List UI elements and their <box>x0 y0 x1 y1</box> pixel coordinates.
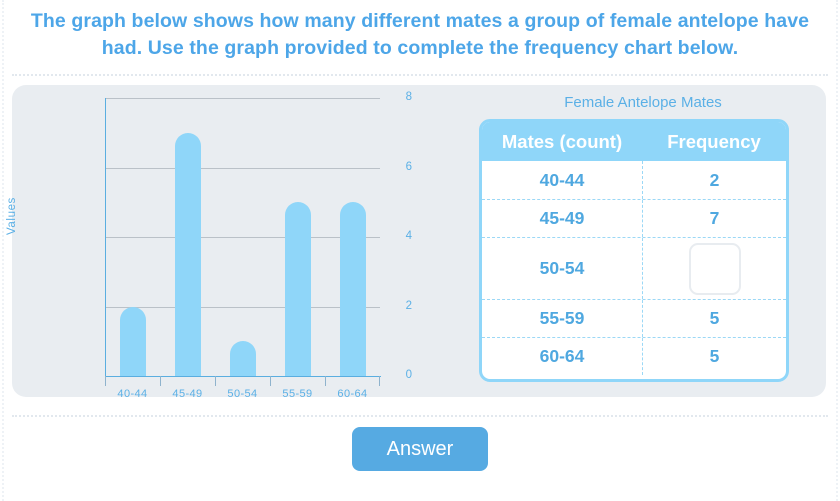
divider-bottom <box>12 415 828 417</box>
bar-40-44 <box>120 307 146 377</box>
cell-bin-50-54: 50-54 <box>482 238 642 299</box>
cell-bin-55-59: 55-59 <box>482 300 642 337</box>
x-axis-tick <box>215 376 270 387</box>
x-axis-ticks <box>105 376 380 387</box>
x-axis-label-45-49: 45-49 <box>160 388 215 400</box>
table-row: 50-54 <box>482 237 786 299</box>
frequency-table-section: Female Antelope Mates Mates (count) Freq… <box>460 85 826 397</box>
x-axis-label-40-44: 40-44 <box>105 388 160 400</box>
x-axis-label-50-54: 50-54 <box>215 388 270 400</box>
bar-50-54 <box>230 341 256 376</box>
left-edge-dots <box>2 0 4 501</box>
x-axis-labels: 40-4445-4950-5455-5960-64 <box>105 388 380 400</box>
column-header-frequency: Frequency <box>642 122 786 161</box>
table-title: Female Antelope Mates <box>460 94 826 111</box>
bar-slot <box>325 98 380 376</box>
cell-frequency-50-54[interactable] <box>642 238 786 299</box>
cell-bin-40-44: 40-44 <box>482 161 642 199</box>
divider-top <box>12 74 828 76</box>
bar-series <box>105 98 380 376</box>
y-axis-label: Values <box>6 197 18 235</box>
x-axis-tick <box>270 376 325 387</box>
answer-button[interactable]: Answer <box>352 427 488 471</box>
x-axis-tick <box>160 376 215 387</box>
column-header-mates: Mates (count) <box>482 122 642 161</box>
cell-frequency-40-44: 2 <box>642 161 786 199</box>
x-axis-label-55-59: 55-59 <box>270 388 325 400</box>
cell-frequency-55-59: 5 <box>642 300 786 337</box>
table-header-row: Mates (count) Frequency <box>482 122 786 161</box>
table-row: 45-497 <box>482 199 786 237</box>
cell-frequency-60-64: 5 <box>642 338 786 375</box>
bar-slot <box>215 98 270 376</box>
exercise-page: The graph below shows how many different… <box>0 0 840 501</box>
bar-chart: Values 8 6 4 2 0 40-4445-4950-5455-5960-… <box>12 85 412 397</box>
frequency-input-50-54[interactable] <box>689 243 741 295</box>
table-row: 55-595 <box>482 299 786 337</box>
bar-60-64 <box>340 202 366 376</box>
bar-slot <box>270 98 325 376</box>
x-axis-tick <box>105 376 160 387</box>
bar-slot <box>160 98 215 376</box>
table-row: 60-645 <box>482 337 786 375</box>
x-axis-label-60-64: 60-64 <box>325 388 380 400</box>
content-panel: Values 8 6 4 2 0 40-4445-4950-5455-5960-… <box>12 85 826 397</box>
frequency-table: Mates (count) Frequency 40-44245-49750-5… <box>479 119 789 382</box>
bar-slot <box>105 98 160 376</box>
bar-55-59 <box>285 202 311 376</box>
table-row: 40-442 <box>482 161 786 199</box>
bar-45-49 <box>175 133 201 376</box>
cell-bin-45-49: 45-49 <box>482 200 642 237</box>
cell-bin-60-64: 60-64 <box>482 338 642 375</box>
x-axis-tick <box>325 376 380 387</box>
question-prompt: The graph below shows how many different… <box>18 8 822 62</box>
cell-frequency-45-49: 7 <box>642 200 786 237</box>
right-edge-dots <box>836 0 838 501</box>
